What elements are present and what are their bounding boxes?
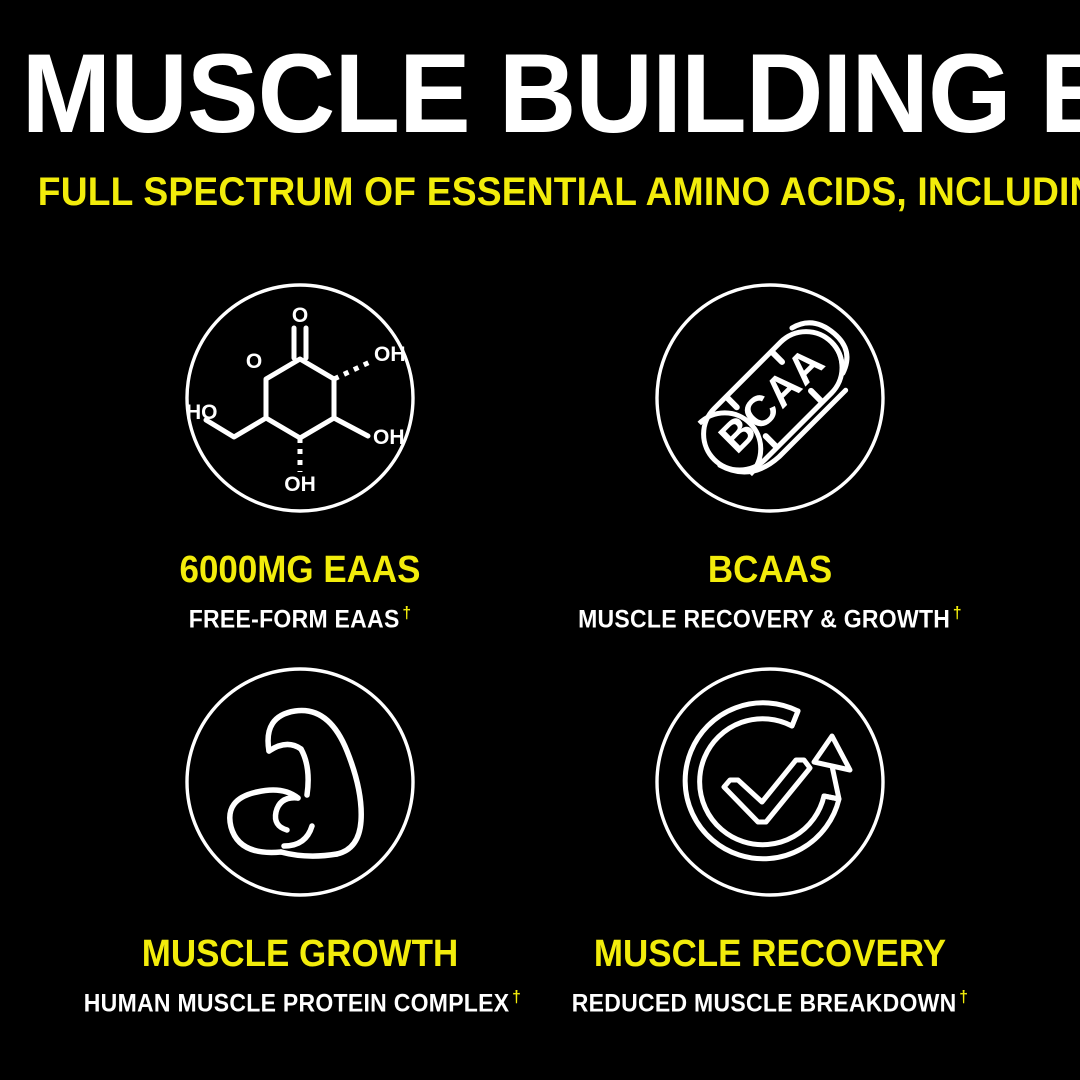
flexed-bicep-icon (184, 666, 416, 898)
feature-grid: O O HO OH OH OH 6000MG EAAS FREE-FORM EA… (0, 282, 1080, 1072)
feature-title: MUSCLE RECOVERY (554, 898, 986, 974)
page-title-text: MUSCLE BUILDING EAAS (22, 31, 1080, 156)
feature-subtitle: HUMAN MUSCLE PROTEIN COMPLEX† (84, 974, 516, 1017)
feature-subtitle-text: HUMAN MUSCLE PROTEIN COMPLEX (84, 989, 510, 1017)
dagger-symbol: † (957, 987, 969, 1006)
feature-subtitle: REDUCED MUSCLE BREAKDOWN† (554, 974, 986, 1017)
feature-card-bcaas: BCAA BCAAS MUSCLE RECOVERY & GROWTH† (535, 282, 1005, 633)
product-benefits-infographic: MUSCLE BUILDING EAAS. FULL SPECTRUM OF E… (0, 0, 1080, 1080)
feature-card-muscle-growth: MUSCLE GROWTH HUMAN MUSCLE PROTEIN COMPL… (65, 666, 535, 1017)
page-title: MUSCLE BUILDING EAAS. (22, 38, 1059, 150)
molecule-label-left-ho: HO (186, 401, 218, 424)
feature-card-muscle-recovery: MUSCLE RECOVERY REDUCED MUSCLE BREAKDOWN… (535, 666, 1005, 1017)
feature-subtitle-text: REDUCED MUSCLE BREAKDOWN (572, 989, 957, 1017)
molecule-label-right-top-oh: OH (374, 343, 406, 366)
feature-title: 6000MG EAAS (84, 514, 516, 590)
feature-subtitle: MUSCLE RECOVERY & GROWTH† (554, 590, 986, 633)
molecule-icon: O O HO OH OH OH (184, 282, 416, 514)
feature-card-eaas: O O HO OH OH OH 6000MG EAAS FREE-FORM EA… (65, 282, 535, 633)
dagger-symbol: † (950, 603, 962, 622)
feature-subtitle-text: MUSCLE RECOVERY & GROWTH (578, 605, 950, 633)
feature-subtitle-text: FREE-FORM EAAS (189, 605, 400, 633)
molecule-label-right-bottom-oh: OH (373, 426, 405, 449)
feature-subtitle: FREE-FORM EAAS† (84, 590, 516, 633)
feature-title: MUSCLE GROWTH (84, 898, 516, 974)
molecule-label-bottom-oh: OH (284, 473, 316, 496)
molecule-label-ring-o: O (246, 350, 262, 373)
page-subtitle: FULL SPECTRUM OF ESSENTIAL AMINO ACIDS, … (38, 170, 1042, 214)
bcaa-capsule-icon: BCAA (654, 282, 886, 514)
dagger-symbol: † (400, 603, 412, 622)
feature-title: BCAAS (554, 514, 986, 590)
dagger-symbol: † (509, 987, 521, 1006)
recovery-check-icon (654, 666, 886, 898)
molecule-label-top-o: O (292, 304, 308, 327)
